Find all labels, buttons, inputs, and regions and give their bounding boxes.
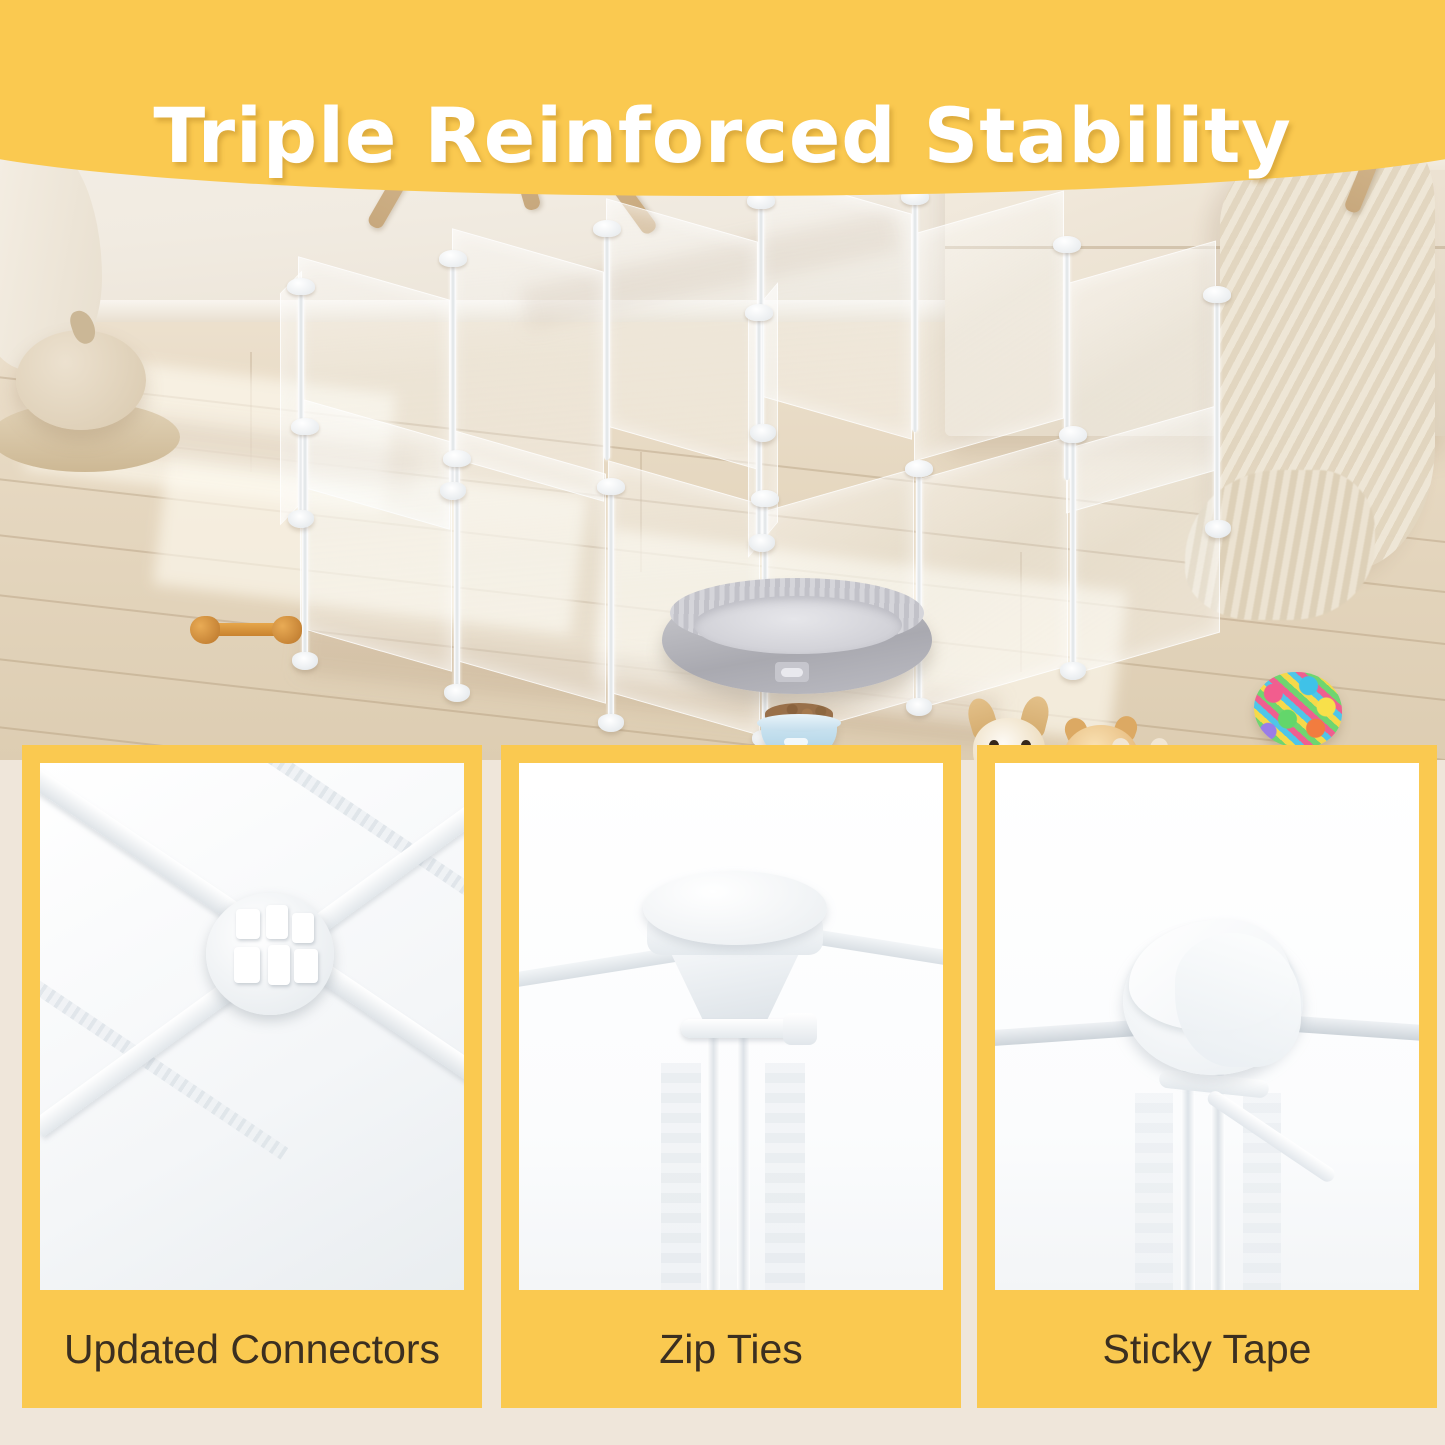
pen-foot	[906, 698, 932, 716]
pen-post	[604, 232, 610, 460]
pen-connector-cap	[745, 304, 773, 321]
pen-post	[916, 472, 922, 706]
pen-connector-cap	[291, 418, 319, 435]
pen-connector-cap	[439, 250, 467, 267]
rawhide-bone-toy	[190, 616, 302, 642]
zip-tie-closeup-photo	[519, 763, 943, 1290]
pen-foot	[444, 684, 470, 702]
pen-post	[608, 490, 614, 722]
pen-foot	[1205, 520, 1231, 538]
pen-connector-cap	[1203, 286, 1231, 303]
pen-post	[1070, 438, 1076, 670]
pen-foot	[750, 424, 776, 442]
pen-connector-cap	[443, 450, 471, 467]
pen-post	[912, 200, 918, 432]
pen-foot	[1060, 662, 1086, 680]
pen-foot	[440, 482, 466, 500]
photo-frame	[977, 745, 1437, 1290]
pen-connector-cap	[593, 220, 621, 237]
food-bowl-rim	[757, 714, 841, 732]
pen-panel	[300, 398, 452, 672]
rainbow-yarn-ball-toy	[1254, 672, 1342, 748]
product-feature-image: Triple Reinforced Stability	[0, 0, 1445, 1445]
pen-post	[302, 430, 308, 660]
pen-connector-cap	[287, 278, 315, 295]
pen-panel	[760, 170, 912, 440]
pen-foot	[598, 714, 624, 732]
feature-card-updated-connectors[interactable]: Updated Connectors	[22, 745, 482, 1408]
feature-caption: Updated Connectors	[22, 1290, 482, 1408]
pen-panel	[606, 198, 758, 470]
pen-connector-cap	[751, 490, 779, 507]
ceramic-pot	[16, 330, 146, 430]
pen-connector-cap	[1053, 236, 1081, 253]
feature-panel-row: Updated Connectors	[0, 745, 1445, 1445]
sticky-tape-closeup-photo	[995, 763, 1419, 1290]
pen-connector-cap	[905, 460, 933, 477]
feature-card-zip-ties[interactable]: Zip Ties	[501, 745, 961, 1408]
pet-bed-cushion	[694, 596, 902, 654]
pen-connector-cap	[597, 478, 625, 495]
pen-foot	[292, 652, 318, 670]
pen-foot	[749, 534, 775, 552]
connector-closeup-photo	[40, 763, 464, 1290]
photo-frame	[501, 745, 961, 1290]
feature-caption-label: Sticky Tape	[977, 1326, 1437, 1373]
pet-playpen	[270, 190, 1210, 730]
page-title: Triple Reinforced Stability	[0, 98, 1445, 174]
pen-panel	[1070, 404, 1220, 675]
pen-panel	[914, 190, 1064, 461]
pen-panel	[454, 430, 606, 704]
feature-caption: Zip Ties	[501, 1290, 961, 1408]
feature-caption-label: Zip Ties	[501, 1326, 961, 1373]
zip-tie-head	[783, 1013, 817, 1045]
bone-icon	[781, 668, 803, 677]
pen-panel	[916, 436, 1068, 710]
pen-foot	[288, 510, 314, 528]
pen-connector-cap	[1059, 426, 1087, 443]
round-cap-connector-icon	[643, 871, 827, 945]
feature-card-sticky-tape[interactable]: Sticky Tape	[977, 745, 1437, 1408]
photo-frame	[22, 745, 482, 1290]
pen-post	[1214, 298, 1220, 530]
feature-caption: Sticky Tape	[977, 1290, 1437, 1408]
feature-caption-label: Updated Connectors	[22, 1326, 482, 1373]
